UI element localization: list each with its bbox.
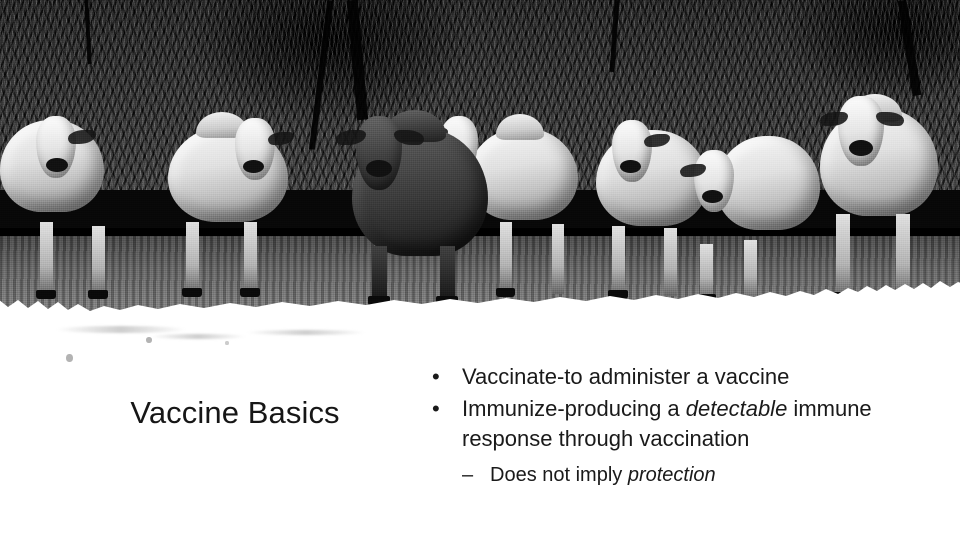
cow-leg — [244, 222, 257, 294]
bull-hoof — [368, 296, 390, 306]
cow-leg — [92, 226, 105, 296]
bullet-segment-emphasis: detectable — [686, 396, 788, 421]
edge-smudge — [150, 334, 246, 339]
bullet-dot-icon: • — [432, 394, 462, 424]
cow-hoof — [88, 290, 108, 299]
sub-bullet-text: Does not imply protection — [490, 461, 932, 489]
bullet-segment: Immunize-producing a — [462, 396, 686, 421]
page-title: Vaccine Basics — [60, 396, 410, 430]
edge-speck — [66, 354, 73, 362]
bullet-dot-icon: • — [432, 362, 462, 392]
bull-leg — [440, 246, 455, 302]
cow-leg — [744, 240, 757, 300]
cow-leg — [552, 224, 564, 294]
sub-bullet-segment: Does not imply — [490, 464, 628, 486]
cow-muzzle — [849, 140, 873, 156]
sub-list-item: – Does not imply protection — [462, 461, 932, 489]
cow-hoof — [182, 288, 202, 297]
bullet-dash-icon: – — [462, 461, 490, 489]
cow-hoof — [608, 290, 628, 299]
cow-leg — [186, 222, 199, 294]
cow-leg — [612, 226, 625, 296]
cow-hoof — [496, 288, 515, 297]
cow-hoof — [240, 288, 260, 297]
list-item: • Vaccinate-to administer a vaccine — [432, 362, 932, 392]
cow-hoof — [36, 290, 56, 299]
bullet-list: • Vaccinate-to administer a vaccine • Im… — [432, 362, 932, 489]
cow-leg — [664, 228, 677, 296]
cattle-photo — [0, 0, 960, 326]
edge-smudge — [56, 326, 186, 333]
cow-leg — [836, 214, 850, 298]
photo-canvas — [0, 0, 960, 326]
bull-muzzle — [366, 160, 392, 177]
bullet-text: Vaccinate-to administer a vaccine — [462, 362, 932, 392]
cow-muzzle — [702, 190, 723, 203]
cow-muzzle — [620, 160, 641, 173]
cow-leg — [40, 222, 53, 296]
edge-smudge — [246, 330, 366, 335]
list-item: • Immunize-producing a detectable immune… — [432, 394, 932, 454]
cow-hoof — [832, 292, 853, 302]
edge-speck — [146, 337, 152, 343]
cow-hoof — [892, 292, 913, 302]
bullet-text: Immunize-producing a detectable immune r… — [462, 394, 932, 454]
slide: Vaccine Basics • Vaccinate-to administer… — [0, 0, 960, 540]
cow-hoof — [696, 294, 716, 303]
bull-leg — [372, 246, 387, 302]
cow-muzzle — [243, 160, 264, 173]
cow-leg — [896, 214, 910, 298]
bull-hoof — [436, 296, 458, 306]
ground — [0, 236, 960, 326]
cow-leg — [500, 222, 512, 294]
sub-bullet-segment-emphasis: protection — [628, 464, 716, 486]
bullet-segment: Vaccinate-to administer a vaccine — [462, 364, 789, 389]
cow-muzzle — [46, 158, 68, 172]
cow-leg — [700, 244, 713, 300]
edge-speck — [225, 341, 229, 345]
